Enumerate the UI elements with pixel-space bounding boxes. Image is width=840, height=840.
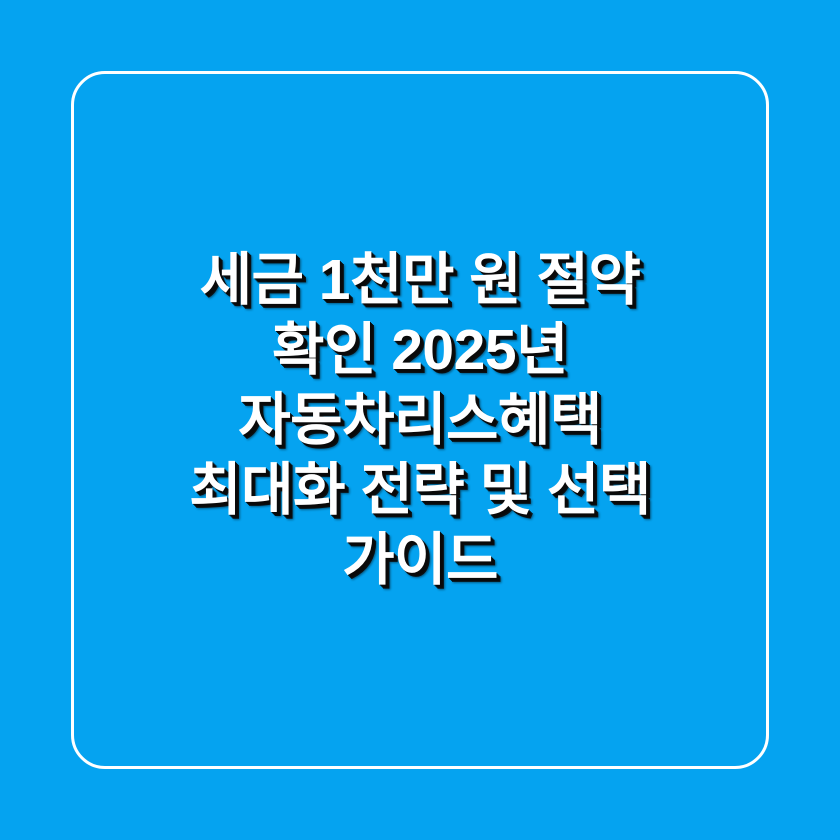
thumbnail-card: 세금 1천만 원 절약 확인 2025년 자동차리스혜택 최대화 전략 및 선택… — [0, 0, 840, 840]
headline-text-block: 세금 1천만 원 절약 확인 2025년 자동차리스혜택 최대화 전략 및 선택… — [0, 0, 840, 840]
headline-line-3: 자동차리스혜택 — [86, 385, 754, 455]
headline-line-1: 세금 1천만 원 절약 — [86, 245, 754, 315]
headline-line-2: 확인 2025년 — [86, 315, 754, 385]
headline-line-5: 가이드 — [86, 525, 754, 595]
headline-line-4: 최대화 전략 및 선택 — [86, 455, 754, 525]
